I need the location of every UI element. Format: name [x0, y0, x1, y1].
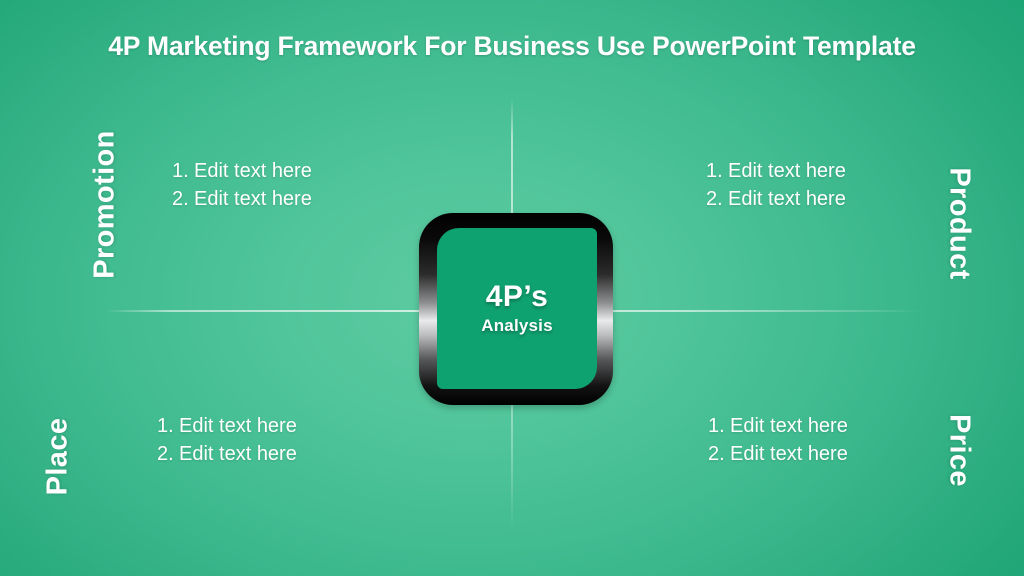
list-item[interactable]: 2.Edit text here: [708, 440, 848, 468]
list-item-number: 2.: [157, 440, 179, 468]
list-item-label: Edit text here: [194, 188, 312, 210]
list-item-number: 2.: [706, 185, 728, 213]
list-item-label: Edit text here: [194, 160, 312, 182]
slide-canvas: 4P Marketing Framework For Business Use …: [0, 0, 1024, 576]
center-node-title: 4P’s: [486, 281, 549, 313]
list-item-label: Edit text here: [179, 415, 297, 437]
list-item[interactable]: 2.Edit text here: [706, 185, 846, 213]
page-title: 4P Marketing Framework For Business Use …: [0, 31, 1024, 62]
list-item-number: 1.: [708, 412, 730, 440]
list-item[interactable]: 2.Edit text here: [172, 185, 312, 213]
list-item[interactable]: 1.Edit text here: [172, 157, 312, 185]
list-item-label: Edit text here: [728, 188, 846, 210]
center-node-body[interactable]: 4P’s Analysis: [437, 228, 597, 389]
list-item-label: Edit text here: [730, 443, 848, 465]
axis-label-product: Product: [943, 136, 976, 312]
quadrant-text-place[interactable]: 1.Edit text here 2.Edit text here: [157, 412, 297, 469]
list-item-number: 1.: [157, 412, 179, 440]
list-item-label: Edit text here: [179, 443, 297, 465]
list-item-label: Edit text here: [728, 160, 846, 182]
list-item[interactable]: 1.Edit text here: [706, 157, 846, 185]
list-item[interactable]: 2.Edit text here: [157, 440, 297, 468]
list-item[interactable]: 1.Edit text here: [157, 412, 297, 440]
quadrant-text-promotion[interactable]: 1.Edit text here 2.Edit text here: [172, 157, 312, 214]
axis-label-promotion: Promotion: [89, 95, 122, 315]
center-node-subtitle: Analysis: [481, 316, 553, 336]
list-item-number: 2.: [172, 185, 194, 213]
list-item-number: 1.: [706, 157, 728, 185]
center-node-frame[interactable]: 4P’s Analysis: [419, 213, 613, 405]
axis-label-price: Price: [943, 391, 976, 511]
quadrant-text-price[interactable]: 1.Edit text here 2.Edit text here: [708, 412, 848, 469]
list-item-label: Edit text here: [730, 415, 848, 437]
list-item-number: 1.: [172, 157, 194, 185]
list-item[interactable]: 1.Edit text here: [708, 412, 848, 440]
list-item-number: 2.: [708, 440, 730, 468]
axis-label-place: Place: [42, 395, 75, 519]
quadrant-text-product[interactable]: 1.Edit text here 2.Edit text here: [706, 157, 846, 214]
